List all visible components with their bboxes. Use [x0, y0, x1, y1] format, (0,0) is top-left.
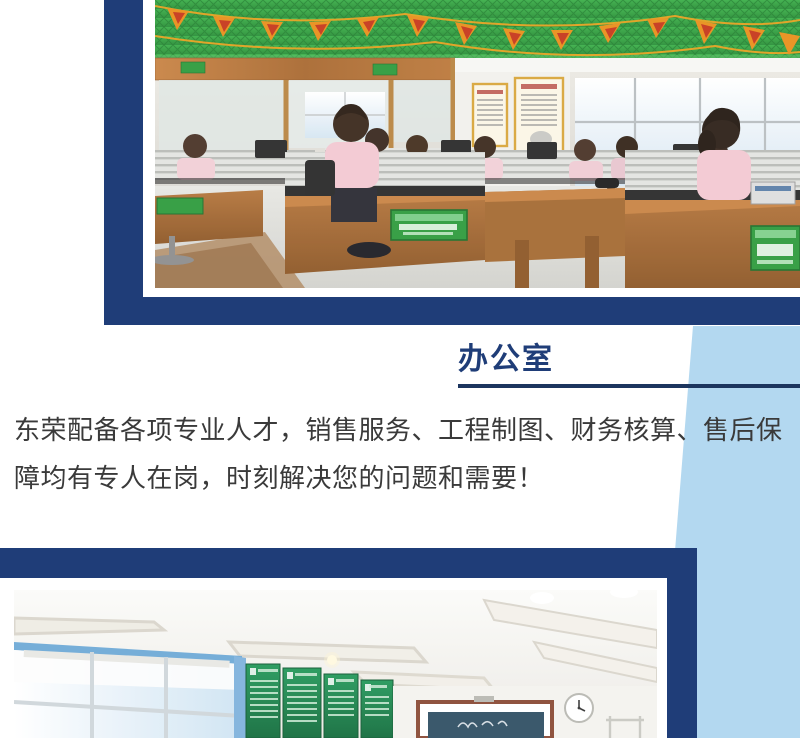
heading-underline	[458, 384, 800, 388]
office-hall-photo	[155, 0, 800, 288]
description-line-1: 东荣配备各项专业人才，销售服务、工程制图、财务核算、售后保	[14, 406, 800, 454]
office-ceiling-photo	[14, 590, 657, 738]
office-description: 东荣配备各项专业人才，销售服务、工程制图、财务核算、售后保 障均有专人在岗，时刻…	[14, 406, 800, 502]
office-hall-photo-art	[155, 0, 800, 288]
page-title: 办公室	[458, 338, 554, 382]
office-section-heading: 办公室	[458, 338, 800, 390]
office-ceiling-photo-art	[14, 590, 657, 738]
description-line-2: 障均有专人在岗，时刻解决您的问题和需要！	[14, 454, 800, 502]
bottom-navy-bar	[0, 548, 697, 578]
bottom-navy-side-bar	[667, 548, 697, 738]
page-canvas: 办公室 东荣配备各项专业人才，销售服务、工程制图、财务核算、售后保 障均有专人在…	[0, 0, 800, 738]
